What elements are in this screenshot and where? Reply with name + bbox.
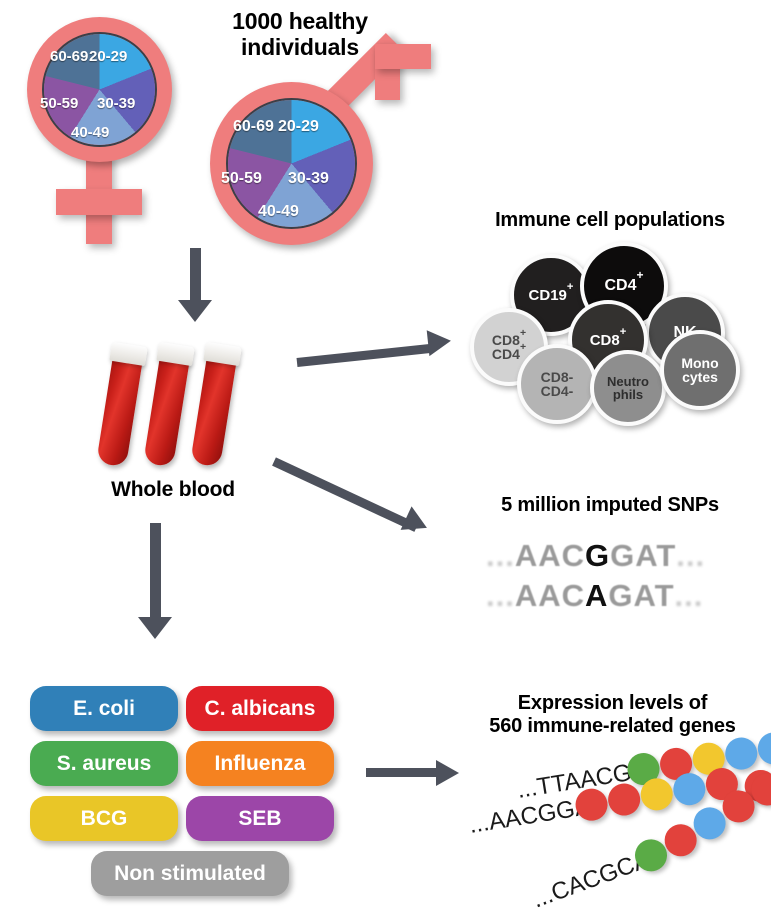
blood-tube-body bbox=[96, 354, 143, 467]
immune-heading: Immune cell populations bbox=[455, 209, 765, 232]
cohort-heading-line1: 1000 healthy bbox=[180, 8, 420, 34]
immune-cell-label: CD4+ bbox=[604, 278, 643, 294]
male-pie-label-60-69: 60-69 bbox=[233, 118, 274, 136]
snp-row2-left: AAC bbox=[515, 578, 585, 614]
stimulus-label: C. albicans bbox=[205, 697, 316, 721]
arrow-head-icon bbox=[401, 506, 433, 539]
expression-bead bbox=[638, 776, 675, 813]
expression-heading: Expression levels of 560 immune-related … bbox=[460, 692, 765, 738]
stimulus-pill-bcg[interactable]: BCG bbox=[30, 796, 178, 841]
blood-tube-body bbox=[143, 354, 190, 467]
female-pie-label-20-29: 20-29 bbox=[89, 48, 127, 65]
stimulus-pill-c-albicans[interactable]: C. albicans bbox=[186, 686, 334, 731]
male-symbol-arrowhead-horizontal bbox=[375, 44, 431, 69]
snp-sequence-row-2: ...AACAGAT... bbox=[486, 578, 703, 614]
snp-row1-right: GAT bbox=[610, 538, 676, 574]
female-gender-symbol: 20-29 30-39 40-49 50-59 60-69 bbox=[14, 14, 204, 244]
arrow-head-icon bbox=[427, 328, 453, 356]
snp-row1-prefix: ... bbox=[486, 538, 515, 574]
immune-cell-neutrophils: Neutrophils bbox=[590, 350, 666, 426]
male-pie-label-40-49: 40-49 bbox=[258, 203, 299, 221]
stimulus-pill-s-aureus[interactable]: S. aureus bbox=[30, 741, 178, 786]
female-pie-label-30-39: 30-39 bbox=[97, 95, 135, 112]
immune-cell-label: CD8+CD4+ bbox=[492, 333, 526, 361]
female-pie-label-40-49: 40-49 bbox=[71, 124, 109, 141]
blood-tube-body bbox=[190, 354, 237, 467]
male-pie-label-50-59: 50-59 bbox=[221, 170, 262, 188]
expression-bead bbox=[606, 781, 643, 818]
whole-blood-tubes bbox=[105, 340, 275, 490]
diagram-canvas: 1000 healthy individuals 20-29 30-39 40-… bbox=[0, 0, 771, 922]
snp-row1-left: AAC bbox=[515, 538, 585, 574]
blood-tube bbox=[189, 342, 245, 476]
arrow-shaft bbox=[190, 248, 201, 304]
female-pie-label-50-59: 50-59 bbox=[40, 95, 78, 112]
stimulus-label: Influenza bbox=[214, 752, 305, 776]
arrow-head-icon bbox=[436, 760, 459, 786]
snp-row2-variant: A bbox=[585, 578, 608, 614]
stimulus-label: S. aureus bbox=[57, 752, 152, 776]
male-gender-symbol: 20-29 30-39 40-49 50-59 60-69 bbox=[196, 40, 436, 245]
snps-heading: 5 million imputed SNPs bbox=[455, 494, 765, 517]
stimulus-pill-e-coli[interactable]: E. coli bbox=[30, 686, 178, 731]
blood-tube bbox=[95, 342, 151, 476]
immune-cell-monocytes: Monocytes bbox=[660, 330, 740, 410]
stimulus-pill-influenza[interactable]: Influenza bbox=[186, 741, 334, 786]
male-pie-label-20-29: 20-29 bbox=[278, 118, 319, 136]
male-pie-label-30-39: 30-39 bbox=[288, 170, 329, 188]
snp-row2-right: GAT bbox=[608, 578, 674, 614]
female-symbol-crossbar bbox=[56, 189, 142, 215]
expression-heading-line2: 560 immune-related genes bbox=[460, 715, 765, 738]
stimulus-label: Non stimulated bbox=[114, 862, 266, 886]
snp-sequence-row-1: ...AACGGAT... bbox=[486, 538, 705, 574]
arrow-shaft bbox=[366, 768, 438, 777]
arrow-shaft bbox=[272, 457, 418, 532]
stimulus-label: E. coli bbox=[73, 697, 135, 721]
stimulus-pill-seb[interactable]: SEB bbox=[186, 796, 334, 841]
arrow-head-icon bbox=[178, 300, 212, 322]
snp-row1-variant: G bbox=[585, 538, 610, 574]
immune-cell-cd8-cd4-dn: CD8-CD4- bbox=[517, 344, 597, 424]
arrow-head-icon bbox=[138, 617, 172, 639]
stimulus-pill-non-stimulated[interactable]: Non stimulated bbox=[91, 851, 289, 896]
expression-heading-line1: Expression levels of bbox=[460, 692, 765, 715]
immune-cell-label: Neutrophils bbox=[607, 375, 649, 401]
snp-row2-prefix: ... bbox=[486, 578, 515, 614]
stimulus-label: BCG bbox=[81, 807, 128, 831]
immune-cell-label: CD19+ bbox=[529, 288, 574, 303]
female-pie-label-60-69: 60-69 bbox=[50, 48, 88, 65]
snp-row1-suffix: ... bbox=[676, 538, 705, 574]
stimulus-label: SEB bbox=[238, 807, 281, 831]
immune-cell-label: Monocytes bbox=[681, 356, 718, 384]
immune-cell-label: CD8+ bbox=[590, 333, 627, 348]
expression-bead bbox=[671, 771, 708, 808]
arrow-shaft bbox=[297, 344, 433, 367]
snp-row2-suffix: ... bbox=[675, 578, 704, 614]
immune-cell-label: CD8-CD4- bbox=[541, 370, 574, 398]
blood-tube bbox=[142, 342, 198, 476]
immune-cell-cluster: CD19+ CD8+CD4+ CD4+ NK CD8+ CD8-CD4- Neu… bbox=[455, 240, 755, 420]
whole-blood-label: Whole blood bbox=[88, 478, 258, 502]
arrow-shaft bbox=[150, 523, 161, 619]
